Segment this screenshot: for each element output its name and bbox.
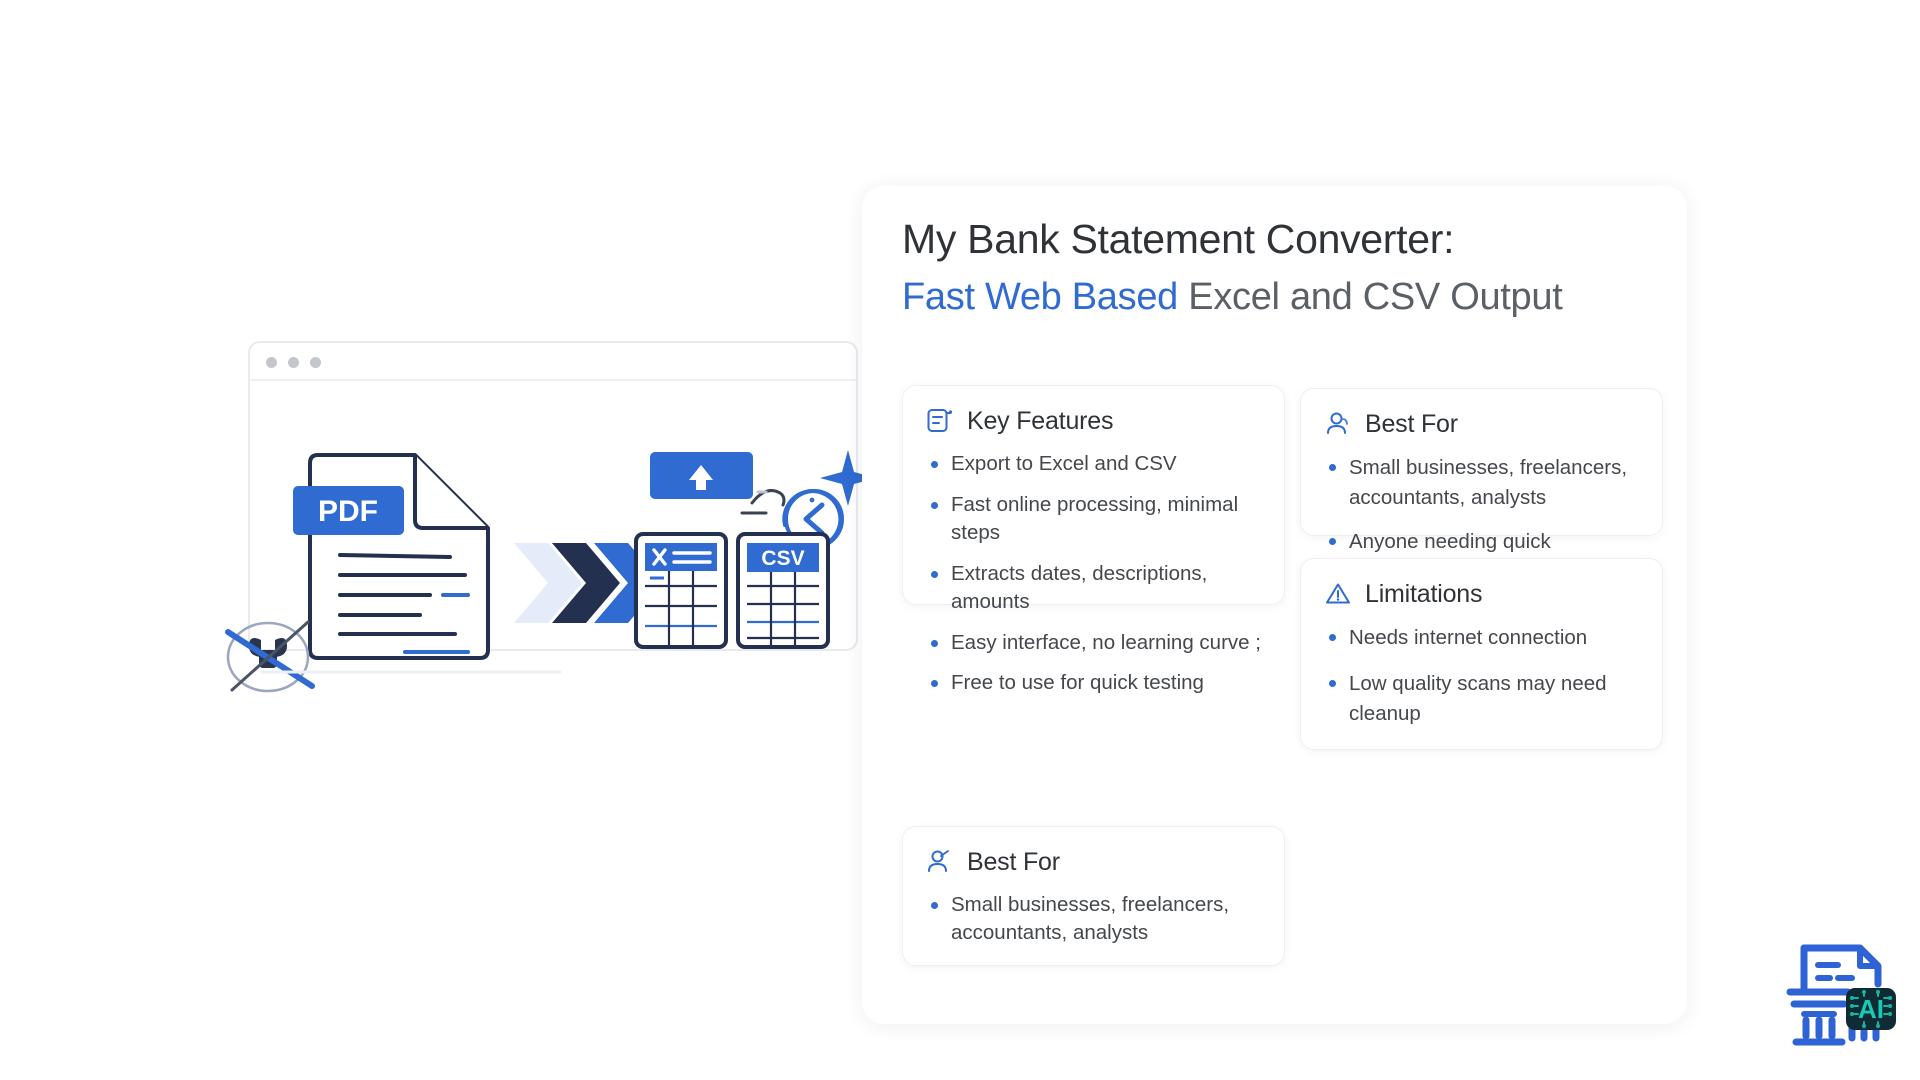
- pdf-document-icon: [310, 455, 488, 658]
- user-person-icon: [1323, 409, 1353, 439]
- illustration-graphics: PDF: [0, 0, 880, 1080]
- csv-sheet-icon: CSV: [738, 534, 828, 647]
- list-item: Small businesses, freelancers, accountan…: [1327, 453, 1644, 513]
- card-title: Best For: [1365, 410, 1458, 439]
- warning-triangle-icon: [1323, 579, 1353, 609]
- card-header: Limitations: [1301, 559, 1662, 609]
- card-best-for-top: Best For Small businesses, freelancers, …: [1300, 388, 1663, 536]
- document-lines-icon: [925, 406, 955, 436]
- card-header: Best For: [1301, 389, 1662, 439]
- card-title: Limitations: [1365, 580, 1482, 609]
- pdf-badge-label: PDF: [318, 495, 378, 528]
- page-title: My Bank Statement Converter:: [902, 216, 1454, 263]
- page-subtitle: Fast Web Based Excel and CSV Output: [902, 276, 1562, 319]
- card-title: Key Features: [967, 407, 1113, 436]
- card-header: Best For: [903, 827, 1284, 877]
- ai-badge-label: AI: [1858, 994, 1884, 1024]
- hero-illustration: PDF: [0, 0, 880, 1080]
- list-item: Export to Excel and CSV: [929, 450, 1266, 479]
- card-title: Best For: [967, 848, 1060, 877]
- subtitle-rest: Excel and CSV Output: [1178, 276, 1562, 318]
- pdf-badge: PDF: [293, 486, 404, 535]
- upload-arrow-button: [650, 452, 753, 499]
- subtitle-highlight: Fast Web Based: [902, 276, 1178, 318]
- list-item: Needs internet connection: [1327, 623, 1644, 653]
- no-ads-blocked-icon: [228, 622, 312, 691]
- card-header: Key Features: [903, 386, 1284, 436]
- list-item: Easy interface, no learning curve ;: [929, 629, 1266, 658]
- bank-document-ai-logo: AI: [1782, 932, 1902, 1052]
- csv-badge-label: CSV: [761, 547, 804, 570]
- card-key-features: Key Features Export to Excel and CSV Fas…: [902, 385, 1285, 605]
- best-for-bottom-list: Small businesses, freelancers, accountan…: [903, 891, 1284, 947]
- list-item: Small businesses, freelancers, accountan…: [929, 891, 1266, 947]
- key-features-list: Export to Excel and CSV Fast online proc…: [903, 450, 1284, 698]
- list-item: Low quality scans may need cleanup: [1327, 669, 1644, 729]
- card-best-for-bottom: Best For Small businesses, freelancers, …: [902, 826, 1285, 966]
- list-item: Fast online processing, minimal steps: [929, 491, 1266, 548]
- user-person-icon: [925, 847, 955, 877]
- limitations-list: Needs internet connection Low quality sc…: [1301, 623, 1662, 729]
- excel-sheet-icon: [636, 534, 726, 647]
- list-item: Extracts dates, descriptions, amounts: [929, 560, 1266, 617]
- info-panel: My Bank Statement Converter: Fast Web Ba…: [862, 186, 1687, 1024]
- card-limitations: Limitations Needs internet connection Lo…: [1300, 558, 1663, 750]
- page-root: PDF: [0, 0, 1920, 1080]
- list-item: Free to use for quick testing: [929, 669, 1266, 698]
